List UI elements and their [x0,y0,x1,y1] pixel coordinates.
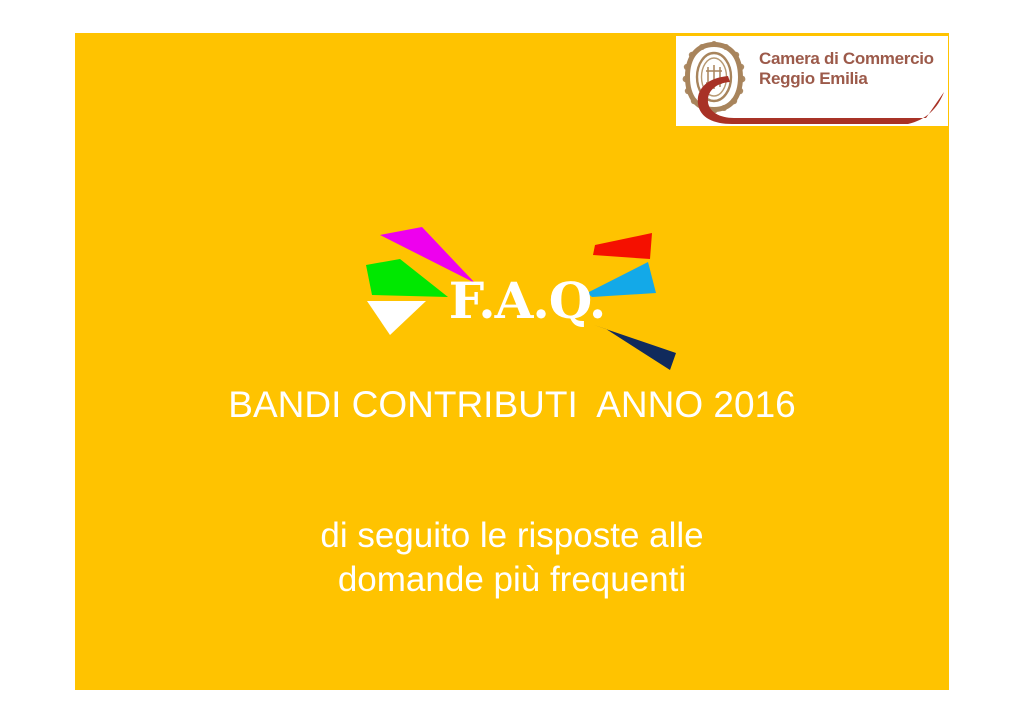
logo-line-1: Camera di Commercio [759,49,934,69]
slide-canvas: Camera di Commercio Reggio Emilia F.A.Q.… [75,33,949,690]
red-boat-swoosh-icon [676,74,948,126]
faq-word: F.A.Q. [422,274,632,328]
page-title: BANDI CONTRIBUTI ANNO 2016 [75,383,949,427]
logo-box: Camera di Commercio Reggio Emilia [676,36,948,126]
page-subtitle: di seguito le risposte alle domande più … [75,514,949,602]
faq-graphic: F.A.Q. [360,225,690,375]
